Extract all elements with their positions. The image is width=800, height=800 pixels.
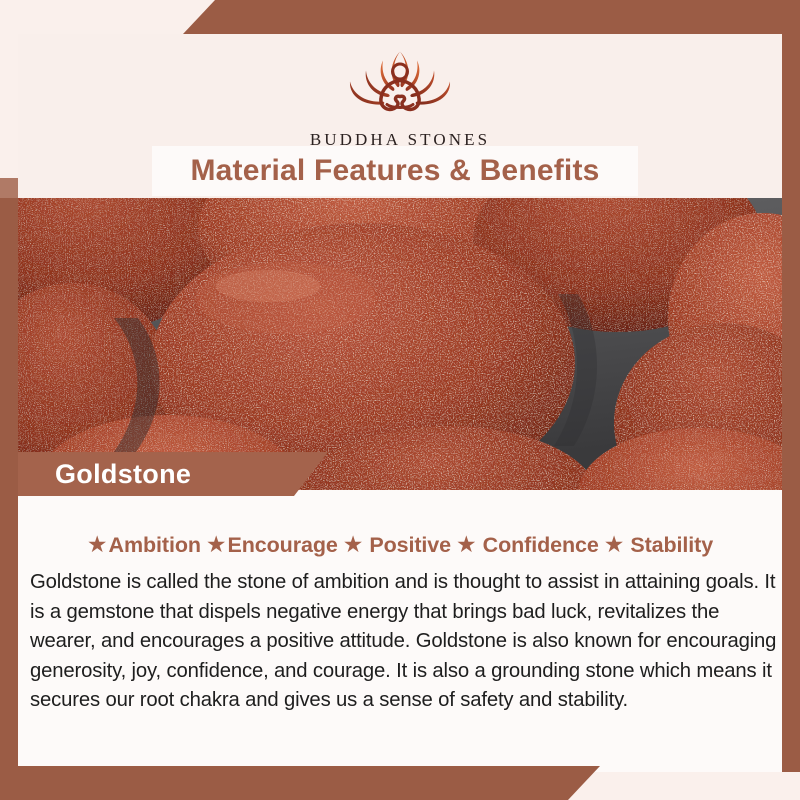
benefit-item-confidence: ★ Confidence	[456, 533, 599, 558]
frame-left-notch	[0, 178, 18, 198]
benefit-label: Positive	[369, 533, 451, 558]
benefit-label: Ambition	[109, 533, 201, 558]
product-name: Goldstone	[55, 459, 191, 490]
frame-right-border	[782, 0, 800, 772]
star-icon: ★	[206, 533, 227, 556]
frame-top-border	[0, 0, 800, 34]
benefit-item-ambition: ★ Ambition	[87, 533, 201, 558]
title-banner: Material Features & Benefits	[152, 146, 638, 196]
benefit-item-encourage: ★ Encourage	[206, 533, 338, 558]
benefit-item-stability: ★ Stability	[604, 533, 713, 558]
product-photo	[18, 198, 782, 490]
benefit-label: Stability	[630, 533, 713, 558]
benefit-item-positive: ★ Positive	[343, 533, 451, 558]
description-text: Goldstone is called the stone of ambitio…	[30, 568, 778, 716]
star-icon: ★	[604, 533, 625, 556]
star-icon: ★	[456, 533, 477, 556]
benefit-label: Encourage	[228, 533, 338, 558]
benefit-label: Confidence	[483, 533, 599, 558]
page-title: Material Features & Benefits	[190, 154, 599, 188]
lotus-meditation-figure-icon	[335, 40, 465, 126]
benefits-list: ★ Ambition ★ Encourage ★ Positive ★ Conf…	[18, 524, 782, 566]
star-icon: ★	[87, 533, 108, 556]
frame-left-border	[0, 196, 18, 800]
star-icon: ★	[343, 533, 364, 556]
product-name-ribbon: Goldstone	[18, 452, 328, 496]
